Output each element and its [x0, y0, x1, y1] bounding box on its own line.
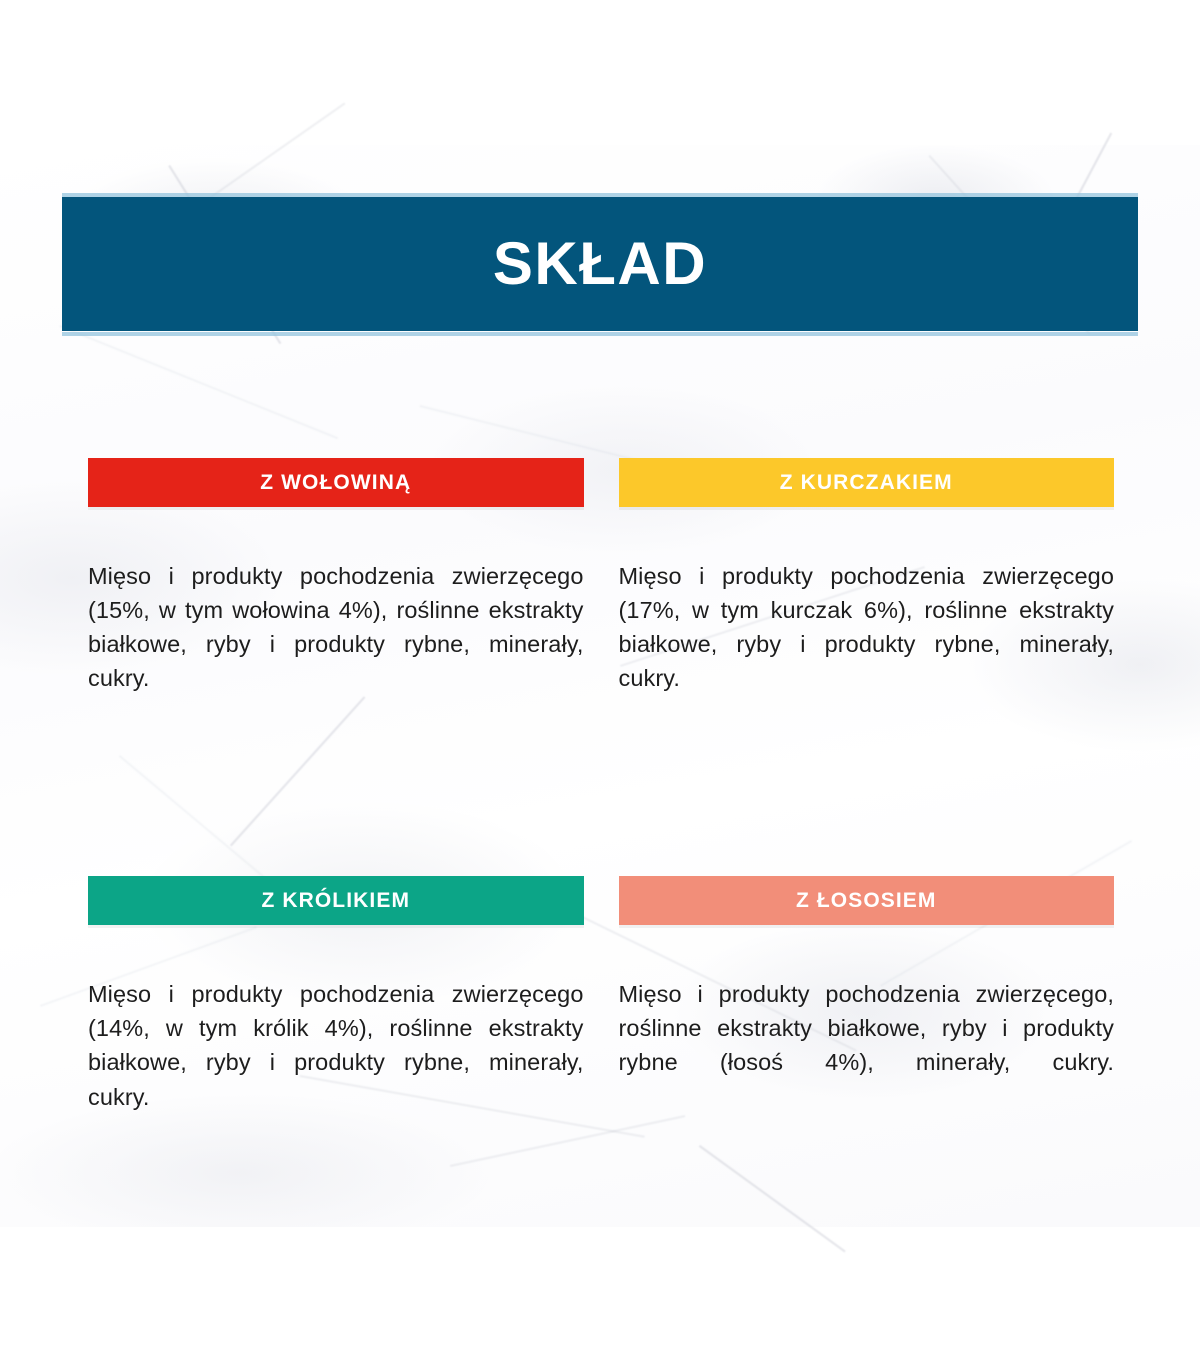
variant-ingredients-chicken: Mięso i produkty pochodzenia zwierzęcego… [619, 559, 1115, 729]
variant-label-rabbit: Z KRÓLIKIEM [261, 890, 410, 911]
variant-card-chicken: Z KURCZAKIEM Mięso i produkty pochodzeni… [619, 458, 1115, 729]
composition-infographic: SKŁAD Z WOŁOWINĄ Mięso i produkty pochod… [0, 0, 1200, 1372]
header-banner: SKŁAD [62, 197, 1138, 331]
variant-card-salmon: Z ŁOSOSIEM Mięso i produkty pochodzenia … [619, 876, 1115, 1147]
variant-ingredients-beef: Mięso i produkty pochodzenia zwierzęcego… [88, 559, 584, 729]
variant-label-salmon: Z ŁOSOSIEM [796, 890, 937, 911]
band-shadow [619, 507, 1115, 510]
variant-band-chicken: Z KURCZAKIEM [619, 458, 1115, 507]
variant-row-1: Z WOŁOWINĄ Mięso i produkty pochodzenia … [88, 458, 1114, 729]
variant-ingredients-salmon: Mięso i produkty pochodzenia zwierzęcego… [619, 977, 1115, 1113]
variant-card-beef: Z WOŁOWINĄ Mięso i produkty pochodzenia … [88, 458, 584, 729]
band-shadow [88, 925, 584, 928]
band-shadow [88, 507, 584, 510]
variant-ingredients-rabbit: Mięso i produkty pochodzenia zwierzęcego… [88, 977, 584, 1147]
variant-band-salmon: Z ŁOSOSIEM [619, 876, 1115, 925]
variant-row-2: Z KRÓLIKIEM Mięso i produkty pochodzenia… [88, 876, 1114, 1147]
variant-label-beef: Z WOŁOWINĄ [260, 472, 411, 493]
variant-grid: Z WOŁOWINĄ Mięso i produkty pochodzenia … [88, 458, 1114, 1148]
variant-label-chicken: Z KURCZAKIEM [780, 472, 953, 493]
variant-band-rabbit: Z KRÓLIKIEM [88, 876, 584, 925]
variant-card-rabbit: Z KRÓLIKIEM Mięso i produkty pochodzenia… [88, 876, 584, 1147]
variant-band-beef: Z WOŁOWINĄ [88, 458, 584, 507]
band-shadow [619, 925, 1115, 928]
page-title: SKŁAD [493, 234, 707, 294]
